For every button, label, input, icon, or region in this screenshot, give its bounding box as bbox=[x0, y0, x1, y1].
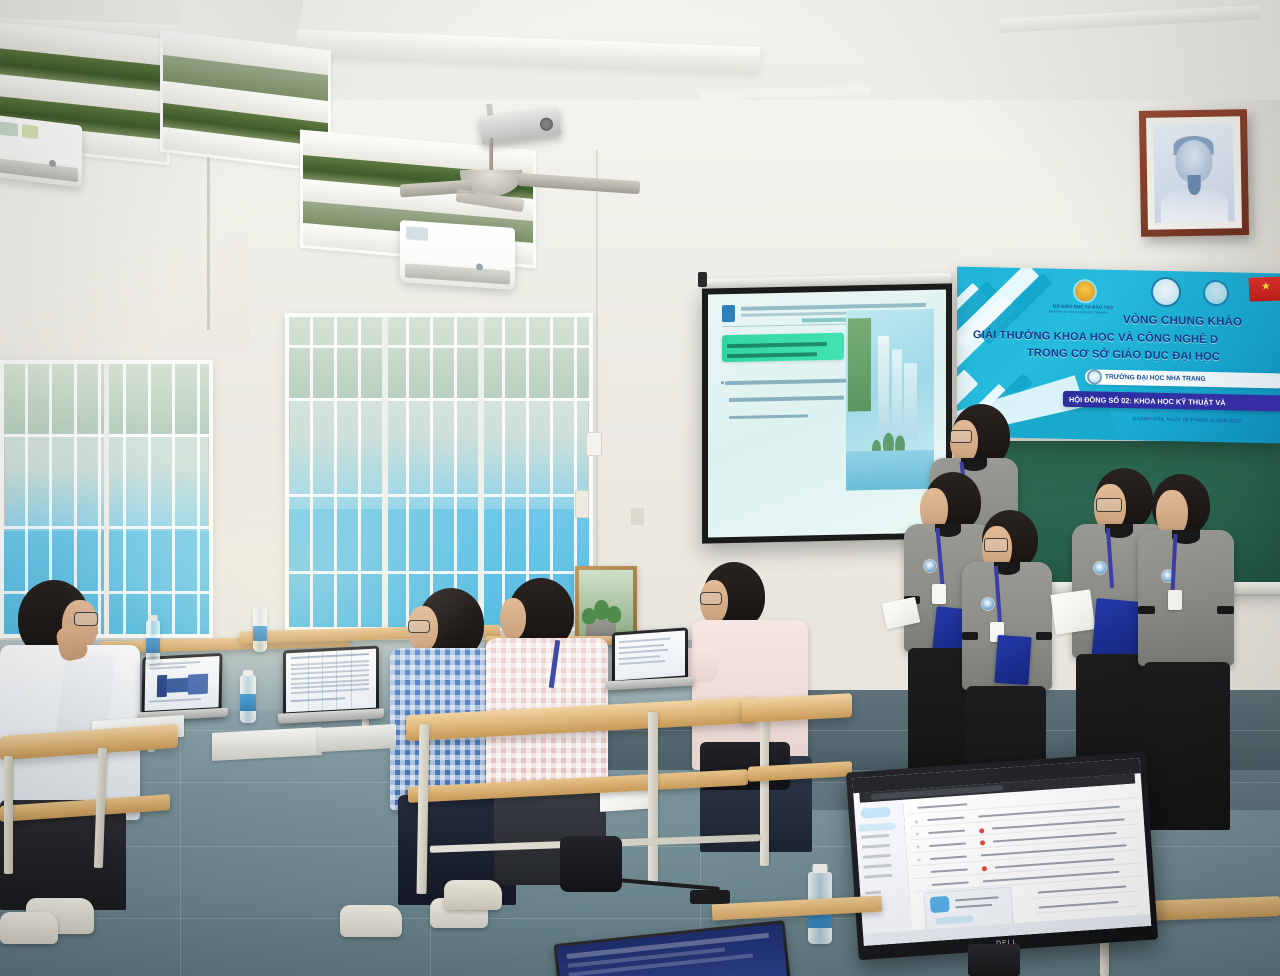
floor-backpack bbox=[560, 836, 622, 892]
projection-screen bbox=[702, 283, 952, 543]
water-bottle-2 bbox=[253, 608, 267, 652]
banner-round-text: VÒNG CHUNG KHẢO bbox=[1123, 314, 1242, 328]
bench-leg-left-2 bbox=[4, 756, 13, 874]
moet-emblem-icon bbox=[1075, 281, 1095, 301]
judge-white-shirt-shoe-2 bbox=[0, 912, 58, 944]
laptop-3[interactable] bbox=[612, 627, 688, 684]
student-3-folder bbox=[1092, 598, 1143, 660]
mail-compose-button[interactable] bbox=[860, 807, 891, 819]
university-small-logo-icon bbox=[1089, 371, 1100, 382]
light-switch[interactable] bbox=[586, 432, 602, 456]
student-3-paper bbox=[1050, 589, 1095, 634]
judge-white-shirt-glasses-icon bbox=[74, 612, 98, 626]
water-bottle-1 bbox=[146, 620, 160, 664]
monitor-screen: ★ ★ ★ ★ bbox=[852, 758, 1151, 946]
youth-union-flag-icon: ★ bbox=[1248, 277, 1280, 302]
slide-photo bbox=[846, 309, 934, 491]
student-2-folder bbox=[994, 635, 1031, 685]
student-presenter-glasses-icon bbox=[950, 430, 972, 443]
ceiling-fan-blades bbox=[400, 176, 640, 206]
power-adapter bbox=[690, 890, 730, 904]
event-banner: BỘ GIÁO DỤC VÀ ĐÀO TẠO MINISTRY OF EDUCA… bbox=[957, 267, 1280, 444]
plant-leaves bbox=[580, 600, 624, 626]
student-3-glasses-icon bbox=[1096, 498, 1122, 512]
student-2-glasses-icon bbox=[984, 538, 1008, 552]
slide-bullet-3 bbox=[729, 414, 808, 419]
banner-award-line2: TRONG CƠ SỞ GIÁO DỤC ĐẠI HỌC bbox=[1027, 347, 1220, 363]
student-4-legs bbox=[1144, 662, 1230, 830]
bench-leg-center-3 bbox=[760, 706, 769, 866]
slide-logo-icon bbox=[722, 305, 735, 322]
student-4-body bbox=[1138, 530, 1234, 666]
classroom-scene: BỘ GIÁO DỤC VÀ ĐÀO TẠO MINISTRY OF EDUCA… bbox=[0, 0, 1280, 976]
judge-pink-shirt-glasses-icon bbox=[700, 592, 722, 605]
banner-date-text: KHÁNH HÒA, NGÀY 05 THÁNG 11 NĂM 2023 bbox=[1133, 416, 1241, 424]
judge-blue-check-glasses-icon bbox=[408, 620, 430, 633]
printed-chart-2 bbox=[318, 724, 396, 752]
wall-fixture bbox=[631, 508, 644, 525]
laptop-1-screen bbox=[145, 656, 220, 711]
slide-bullet-2 bbox=[729, 396, 843, 402]
slide-bullet-marker bbox=[721, 381, 724, 384]
bench-leg-center-2 bbox=[648, 712, 658, 882]
judge-pink-check-face bbox=[500, 598, 526, 640]
ceiling-fan-rod bbox=[489, 138, 493, 172]
slide-canvas bbox=[708, 290, 946, 538]
student-4-id-card bbox=[1168, 590, 1182, 610]
desktop-monitor[interactable]: ★ ★ ★ ★ bbox=[846, 752, 1158, 960]
student-1-id-card bbox=[932, 584, 946, 604]
banner-award-line1: GIẢI THƯỞNG KHOA HỌC VÀ CÔNG NGHỆ D bbox=[973, 329, 1218, 346]
ho-chi-minh-portrait bbox=[1139, 109, 1249, 237]
mail-folder-inbox[interactable] bbox=[858, 822, 896, 832]
air-conditioner-left bbox=[0, 114, 82, 187]
judge-blue-check-shoe bbox=[340, 905, 402, 937]
university-emblem-icon bbox=[1153, 279, 1179, 306]
wall-socket[interactable] bbox=[575, 490, 589, 518]
secondary-emblem-icon bbox=[1205, 282, 1227, 304]
screen-bracket-left bbox=[698, 272, 707, 287]
printed-chart-1 bbox=[212, 727, 322, 761]
judge-pink-check-shoe bbox=[444, 880, 502, 910]
air-conditioner-center bbox=[400, 220, 515, 290]
slide-header-line2 bbox=[741, 312, 858, 317]
laptop-2[interactable] bbox=[283, 645, 379, 716]
water-bottle-3 bbox=[240, 675, 256, 723]
slide-bullet-1 bbox=[725, 379, 849, 385]
moet-sub-label: MINISTRY OF EDUCATION AND TRAINING bbox=[1049, 310, 1109, 315]
laptop-2-screen bbox=[286, 649, 376, 713]
laptop-3-screen bbox=[615, 631, 685, 681]
monitor-stand bbox=[968, 944, 1020, 976]
